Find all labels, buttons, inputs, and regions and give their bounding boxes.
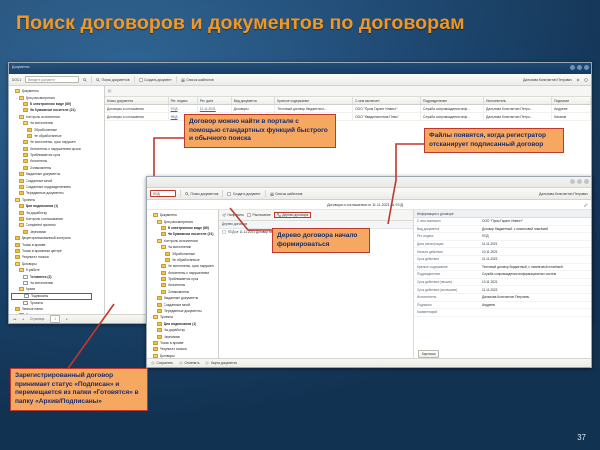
tree-item-label: Обработанные bbox=[172, 252, 196, 256]
folder-icon bbox=[157, 239, 162, 243]
folder-icon bbox=[19, 217, 24, 221]
info-panel-row: Краткое содержаниеТестовый договор бюдже… bbox=[414, 264, 591, 272]
tree-item-label: На бумажном носителе (21) bbox=[168, 232, 214, 236]
folder-icon bbox=[19, 96, 24, 100]
tree-item-label: Договоры bbox=[160, 354, 175, 358]
tree-item-label: Проекты bbox=[22, 198, 36, 202]
table-cell: Катаков bbox=[552, 113, 591, 121]
folder-icon bbox=[19, 115, 24, 119]
info-panel-label: Рег. индекс bbox=[417, 234, 482, 238]
window-controls[interactable] bbox=[570, 65, 589, 70]
folder-icon bbox=[15, 262, 20, 266]
folder-icon bbox=[153, 347, 158, 351]
info-panel-row: Вид документаДоговор бюджетный, с лизинг… bbox=[414, 226, 591, 234]
tree-item-label: Completed проекты bbox=[26, 223, 56, 227]
info-panel-value: ООО "Пром Гарант Инвест" bbox=[482, 219, 588, 223]
folder-icon bbox=[23, 147, 28, 151]
info-panel-row: Срок действия11.11.2022 bbox=[414, 256, 591, 264]
folder-icon bbox=[15, 236, 20, 240]
slide-page-number: 37 bbox=[577, 433, 586, 442]
info-panel-value: 11.11.2021 bbox=[482, 242, 588, 246]
tree-item-label: Папка bbox=[26, 313, 36, 314]
tree-item-label: Не исполнены, срок нарушен bbox=[30, 140, 76, 144]
statusbar-label: Сохранить bbox=[157, 361, 173, 365]
page-input[interactable]: 1 bbox=[50, 315, 60, 323]
tree-item-label: На исполнении bbox=[168, 245, 192, 249]
tree-item-label: Поиск в архивном центре bbox=[22, 249, 62, 253]
main-toolbar[interactable]: DOC1 Введите документ Поиск документов С… bbox=[9, 74, 591, 86]
page-label: Страница bbox=[30, 317, 44, 321]
table-cell: Служба сопровождения инф... bbox=[421, 113, 484, 121]
folder-icon bbox=[15, 255, 20, 259]
info-panel-value: Тестовый договор бюджетный, с лизинговой… bbox=[482, 265, 588, 269]
tree-item-label: Проекты bbox=[30, 301, 44, 305]
table-toolbar[interactable] bbox=[105, 86, 591, 97]
folder-icon bbox=[161, 277, 166, 281]
document-icon bbox=[222, 230, 226, 234]
info-panel-label: Краткое содержание bbox=[417, 265, 482, 269]
table-cell: ООО "Кваденсистема Плюс" bbox=[353, 113, 421, 121]
info-panel-value: Андреев bbox=[482, 303, 588, 307]
tree-item-label: Выданные документы bbox=[26, 172, 61, 176]
toolbar-divider-3 bbox=[176, 76, 177, 83]
folder-icon bbox=[23, 121, 28, 125]
table-column-header[interactable]: Класс документа bbox=[105, 97, 168, 105]
info-panel-row: Срок действия (начало)10.11.2021 bbox=[414, 279, 591, 287]
info-panel-value: 11.11.2022 bbox=[482, 257, 588, 261]
table-cell: Тестовый договор бюджетного... bbox=[275, 105, 353, 113]
folder-icon bbox=[165, 258, 170, 262]
folder-icon bbox=[161, 226, 166, 230]
contract-window-titlebar bbox=[147, 177, 591, 188]
folder-icon bbox=[157, 309, 162, 313]
contract-toolbar-divider bbox=[180, 190, 181, 197]
table-cell: Договоры bbox=[231, 105, 275, 113]
info-panel-value: 10.11.2021 bbox=[482, 250, 588, 254]
tree-item-label: В работе bbox=[26, 268, 40, 272]
folder-icon bbox=[23, 159, 28, 163]
tree-item-label: В электронном виде (89) bbox=[168, 226, 209, 230]
info-panel-label: Исполнитель bbox=[417, 295, 482, 299]
folder-icon bbox=[23, 153, 28, 157]
info-panel-label: Дата регистрации bbox=[417, 242, 482, 246]
tree-item-label: Созданные подразделением bbox=[26, 185, 71, 189]
contract-toolbar-search-documents[interactable]: Поиск документов bbox=[185, 192, 218, 196]
callout-search: Договор можно найти в портале с помощью … bbox=[184, 114, 336, 148]
table-cell: Андреев bbox=[552, 105, 591, 113]
info-panel-label: Срок действия (окончание) bbox=[417, 288, 482, 292]
current-user-label: Дальнова Константин Петрович bbox=[523, 78, 572, 82]
table-column-header[interactable]: Исполнитель bbox=[484, 97, 552, 105]
contract-info-panel: Информация о договоре С кем заключенООО … bbox=[413, 210, 591, 358]
folder-icon bbox=[19, 268, 24, 272]
action-schedule-button[interactable]: Расписание bbox=[247, 213, 271, 217]
contract-toolbar-divider-2 bbox=[222, 190, 223, 197]
table-cell: 11.11.2021 bbox=[197, 105, 231, 113]
folder-icon bbox=[23, 102, 28, 106]
contract-title: Договора и соглашения от 11.11.2021 № 97… bbox=[327, 203, 403, 207]
tree-item-label: Переданные документы bbox=[164, 309, 202, 313]
column-settings-icon[interactable] bbox=[108, 89, 112, 93]
contract-current-user-label: Дальнова Константин Петрович bbox=[539, 192, 588, 196]
card-button[interactable]: Карточка bbox=[418, 350, 439, 358]
contract-statusbar[interactable]: СохранитьОтменитьКарта документа bbox=[147, 358, 591, 367]
tree-item-label: Приближается срок bbox=[30, 153, 61, 157]
folder-icon bbox=[19, 211, 24, 215]
table-cell: 97/Д bbox=[168, 105, 197, 113]
folder-icon bbox=[19, 313, 24, 314]
tree-item-label: Контроль согласования bbox=[26, 217, 63, 221]
tree-item-label: Созданные мной bbox=[164, 303, 191, 307]
info-panel-rows: С кем заключенООО "Пром Гарант Инвест"Ви… bbox=[414, 218, 591, 350]
document-icon bbox=[23, 281, 28, 285]
folder-icon bbox=[19, 204, 24, 208]
table-cell: Договоры и соглашения bbox=[105, 113, 168, 121]
toolbar-item-template-list[interactable]: Список шаблонов bbox=[181, 78, 214, 82]
contract-window-controls[interactable] bbox=[570, 179, 589, 184]
folder-icon bbox=[157, 328, 162, 332]
info-panel-label: Подразделение bbox=[417, 272, 482, 276]
info-panel-value: Дальнова Константин Петрович bbox=[482, 295, 588, 299]
info-panel-row: ПодписалАндреев bbox=[414, 302, 591, 310]
folder-icon bbox=[19, 287, 24, 291]
tree-item-label: На бумажном носителе (21) bbox=[30, 108, 76, 112]
table-column-header[interactable]: Подписал bbox=[552, 97, 591, 105]
tree-item-label: Исполнены bbox=[168, 283, 186, 287]
tree-item-label: На доработку bbox=[164, 328, 185, 332]
nav-first-icon[interactable]: ◂◂ bbox=[13, 317, 16, 321]
document-icon bbox=[23, 275, 28, 279]
table-row[interactable]: Договоры и соглашения95/Д06.11.2021Догов… bbox=[105, 113, 591, 121]
folder-icon bbox=[19, 223, 24, 227]
folder-icon bbox=[161, 245, 166, 249]
info-panel-row: С кем заключенООО "Пром Гарант Инвест" bbox=[414, 218, 591, 226]
folder-icon bbox=[161, 283, 166, 287]
minimize-button[interactable] bbox=[570, 65, 575, 70]
contract-action-toolbar[interactable]: Направить Расписание Дерево договора bbox=[219, 210, 413, 221]
documents-table[interactable]: Класс документаРег. индексРег. датаВид д… bbox=[105, 97, 591, 121]
statusbar-save[interactable]: Сохранить bbox=[151, 361, 173, 365]
folder-icon bbox=[23, 140, 28, 144]
tree-item-label: Ознакомлены bbox=[168, 290, 190, 294]
info-panel-label: Комментарий bbox=[417, 310, 482, 314]
tree-item-label: Личные папки bbox=[22, 307, 44, 311]
help-icon[interactable] bbox=[584, 78, 588, 82]
tree-item-label: Выданные документы bbox=[164, 296, 199, 300]
statusbar-cancel[interactable]: Отменить bbox=[179, 361, 200, 365]
folder-icon bbox=[15, 249, 20, 253]
info-panel-label: Начало действия bbox=[417, 250, 482, 254]
tree-item-label: Договоры bbox=[22, 262, 37, 266]
tree-item-label: Исполнены с нарушением срока bbox=[30, 147, 81, 151]
table-column-header[interactable]: Рег. индекс bbox=[168, 97, 197, 105]
info-panel-row: Срок действия (окончание)11.11.2022 bbox=[414, 286, 591, 294]
tree-item-label: Не обработанные bbox=[34, 134, 62, 138]
info-panel-row: ПодразделениеСлужба сопровождения информ… bbox=[414, 271, 591, 279]
tree-item-label: Поиск в архиве bbox=[22, 243, 46, 247]
folder-icon bbox=[19, 191, 24, 195]
contract-toolbar-divider-3 bbox=[265, 190, 266, 197]
edit-pencil-icon[interactable] bbox=[584, 203, 588, 207]
statusbar-map[interactable]: Карта документа bbox=[205, 361, 236, 365]
contract-search-input[interactable]: 97/Д bbox=[150, 190, 176, 198]
info-panel-row: Дата регистрации11.11.2021 bbox=[414, 241, 591, 249]
callout-tree: Дерево договора начало формироваться bbox=[272, 228, 370, 253]
statusbar-label: Карта документа bbox=[211, 361, 237, 365]
folder-icon bbox=[23, 166, 28, 170]
tree-item-label: Не обработанные bbox=[172, 258, 200, 262]
toolbar-divider bbox=[91, 76, 92, 83]
folder-icon bbox=[161, 264, 166, 268]
folder-icon bbox=[19, 185, 24, 189]
tree-item-label: Исполнены bbox=[30, 159, 48, 163]
folder-icon bbox=[153, 341, 158, 345]
info-panel-value: 11.11.2022 bbox=[482, 288, 588, 292]
tree-item-label: Контроль исполнения bbox=[26, 115, 60, 119]
info-panel-label: Срок действия bbox=[417, 257, 482, 261]
table-column-header[interactable]: Краткое содержание bbox=[275, 97, 353, 105]
callout-files: Файлы появятся, когда регистратор отскан… bbox=[424, 128, 564, 153]
info-panel-label: Подписал bbox=[417, 303, 482, 307]
document-icon bbox=[23, 301, 28, 305]
tree-item-label: Результат поиска bbox=[160, 347, 187, 351]
tree-item[interactable]: Подписаны bbox=[11, 293, 92, 300]
toolbar-divider-2 bbox=[134, 76, 135, 83]
folder-icon bbox=[27, 128, 32, 132]
folder-icon bbox=[27, 134, 32, 138]
folder-icon bbox=[23, 230, 28, 234]
folder-icon bbox=[15, 198, 20, 202]
info-panel-value bbox=[482, 310, 588, 314]
statusbar-label: Отменить bbox=[184, 361, 199, 365]
tree-item-label: Ознакомлены bbox=[30, 166, 52, 170]
action-contract-tree-button[interactable]: Дерево договора bbox=[274, 212, 312, 218]
contract-folder-tree[interactable]: -Документы-Для рассмотренияВ электронном… bbox=[147, 210, 219, 358]
contract-toolbar-template-list[interactable]: Список шаблонов bbox=[270, 192, 303, 196]
nav-prev-icon[interactable]: ◂ bbox=[22, 317, 24, 321]
close-button[interactable] bbox=[584, 65, 589, 70]
tree-item-label: Не исполнены, срок нарушен bbox=[168, 264, 214, 268]
tree-item-label: Для подписания (1) bbox=[26, 204, 59, 208]
table-cell: Договоры и соглашения bbox=[105, 105, 168, 113]
contract-toolbar[interactable]: 97/Д Поиск документов Создать документ С… bbox=[147, 188, 591, 200]
contract-card-window[interactable]: 97/Д Поиск документов Создать документ С… bbox=[146, 176, 592, 368]
folder-icon bbox=[161, 290, 166, 294]
info-panel-value: 10.11.2021 bbox=[482, 280, 588, 284]
folder-icon bbox=[153, 354, 158, 358]
table-cell: Дальнова Константин Петро... bbox=[484, 113, 552, 121]
info-panel-value: 97/Д bbox=[482, 234, 588, 238]
info-panel-value: Договор бюджетный, с лизинговой платёжей bbox=[482, 227, 588, 231]
folder-icon bbox=[157, 335, 162, 339]
document-icon bbox=[24, 294, 29, 298]
info-panel-row: Комментарий bbox=[414, 309, 591, 317]
tree-item-label: На исполнении bbox=[30, 121, 54, 125]
folder-icon bbox=[15, 243, 20, 247]
tree-item-label: Проекты bbox=[160, 315, 174, 319]
tree-item-label: Исполнены с нарушением bbox=[168, 271, 209, 275]
table-cell: ООО "Пром Гарант Инвест" bbox=[353, 105, 421, 113]
tree-item[interactable]: Папка bbox=[11, 312, 104, 314]
tree-item-label: На исполнении bbox=[30, 281, 54, 285]
contract-maximize-button[interactable] bbox=[577, 179, 582, 184]
folder-icon bbox=[157, 220, 162, 224]
tree-item-label: Для рассмотрения bbox=[26, 96, 55, 100]
table-row[interactable]: Договоры и соглашения97/Д11.11.2021Догов… bbox=[105, 105, 591, 113]
module-label: DOC1 bbox=[12, 78, 21, 82]
contract-title-row: Договора и соглашения от 11.11.2021 № 97… bbox=[147, 200, 591, 210]
window-titlebar: Документы bbox=[9, 63, 591, 74]
tree-item-label: Приближается срок bbox=[168, 277, 199, 281]
table-cell: Дальнова Константин Петро... bbox=[484, 105, 552, 113]
callout-status: Зарегистрированный договор принимает ста… bbox=[10, 368, 148, 411]
table-body[interactable]: Договоры и соглашения97/Д11.11.2021Догов… bbox=[105, 105, 591, 121]
folder-icon bbox=[19, 172, 24, 176]
info-panel-label: Вид документа bbox=[417, 227, 482, 231]
action-send-button[interactable]: Направить bbox=[222, 213, 244, 217]
tree-item-label: Переданные документы bbox=[26, 191, 64, 195]
tree-item-label: На доработку bbox=[26, 211, 47, 215]
folder-icon bbox=[157, 303, 162, 307]
table-column-header[interactable]: Рег. дата bbox=[197, 97, 231, 105]
info-panel-row: Начало действия10.11.2021 bbox=[414, 248, 591, 256]
folder-icon bbox=[165, 252, 170, 256]
tree-item-label: Созданные мной bbox=[26, 179, 53, 183]
folder-icon bbox=[23, 108, 28, 112]
nav-next-icon[interactable]: ▸ bbox=[66, 317, 68, 321]
search-icon[interactable] bbox=[83, 78, 87, 82]
window-title: Документы bbox=[12, 65, 29, 69]
tree-item[interactable]: -Договоры bbox=[149, 353, 218, 358]
table-cell: Служба сопровождения инф... bbox=[421, 105, 484, 113]
tree-item-label: В электронном виде (89) bbox=[30, 102, 71, 106]
info-panel-header: Информация о договоре bbox=[414, 210, 591, 218]
tree-item-label: Поиск в архиве bbox=[160, 341, 184, 345]
tree-item-label: Архив bbox=[26, 287, 36, 291]
folder-icon bbox=[19, 179, 24, 183]
folder-icon bbox=[15, 89, 20, 93]
tree-item-label: Готовятся (2) bbox=[30, 275, 52, 279]
info-panel-label: С кем заключен bbox=[417, 219, 482, 223]
table-column-header[interactable]: С кем заключен bbox=[353, 97, 421, 105]
tree-item-label: Для рассмотрения bbox=[164, 220, 193, 224]
tree-item-label: Документы bbox=[160, 213, 177, 217]
tree-item-label: Документы bbox=[22, 89, 39, 93]
contract-close-button[interactable] bbox=[584, 179, 589, 184]
folder-icon bbox=[15, 307, 20, 311]
table-header-row[interactable]: Класс документаРег. индексРег. датаВид д… bbox=[105, 97, 591, 105]
tree-item-label: Обработанные bbox=[34, 128, 58, 132]
folder-icon bbox=[161, 271, 166, 275]
folder-icon bbox=[153, 315, 158, 319]
toolbar-item-search-documents[interactable]: Поиск документов bbox=[96, 78, 129, 82]
folder-tree[interactable]: -Документы-Для рассмотренияВ электронном… bbox=[9, 86, 105, 314]
info-panel-value: Служба сопровождения информационных сист… bbox=[482, 272, 588, 276]
table-column-header[interactable]: Вид документа bbox=[231, 97, 275, 105]
tree-item-label: Контроль исполнения bbox=[164, 239, 198, 243]
toolbar-item-create-document[interactable]: Создать документ bbox=[139, 78, 172, 82]
maximize-button[interactable] bbox=[577, 65, 582, 70]
contract-minimize-button[interactable] bbox=[570, 179, 575, 184]
contract-toolbar-create-document[interactable]: Создать документ bbox=[227, 192, 260, 196]
tree-item-label: Результат поиска bbox=[22, 255, 49, 259]
table-column-header[interactable]: Подразделение bbox=[421, 97, 484, 105]
tree-item-label: Черновики bbox=[164, 335, 181, 339]
info-panel-row: ИсполнительДальнова Константин Петрович bbox=[414, 294, 591, 302]
folder-icon bbox=[157, 322, 162, 326]
folder-icon bbox=[161, 232, 166, 236]
info-panel-row: Рег. индекс97/Д bbox=[414, 233, 591, 241]
tree-item-label: Подписаны bbox=[31, 294, 49, 298]
page-title: Поиск договоров и документов по договора… bbox=[16, 12, 576, 35]
info-panel-label: Срок действия (начало) bbox=[417, 280, 482, 284]
slide-canvas: Поиск договоров и документов по договора… bbox=[0, 0, 600, 450]
tree-item-label: Черновики bbox=[30, 230, 47, 234]
gear-icon[interactable] bbox=[576, 78, 580, 82]
folder-icon bbox=[157, 296, 162, 300]
tree-item-label: Децентрализованный контроль bbox=[22, 236, 71, 240]
search-input[interactable]: Введите документ bbox=[25, 76, 79, 84]
tree-item-label: Для подписания (1) bbox=[164, 322, 197, 326]
folder-icon bbox=[153, 213, 158, 217]
